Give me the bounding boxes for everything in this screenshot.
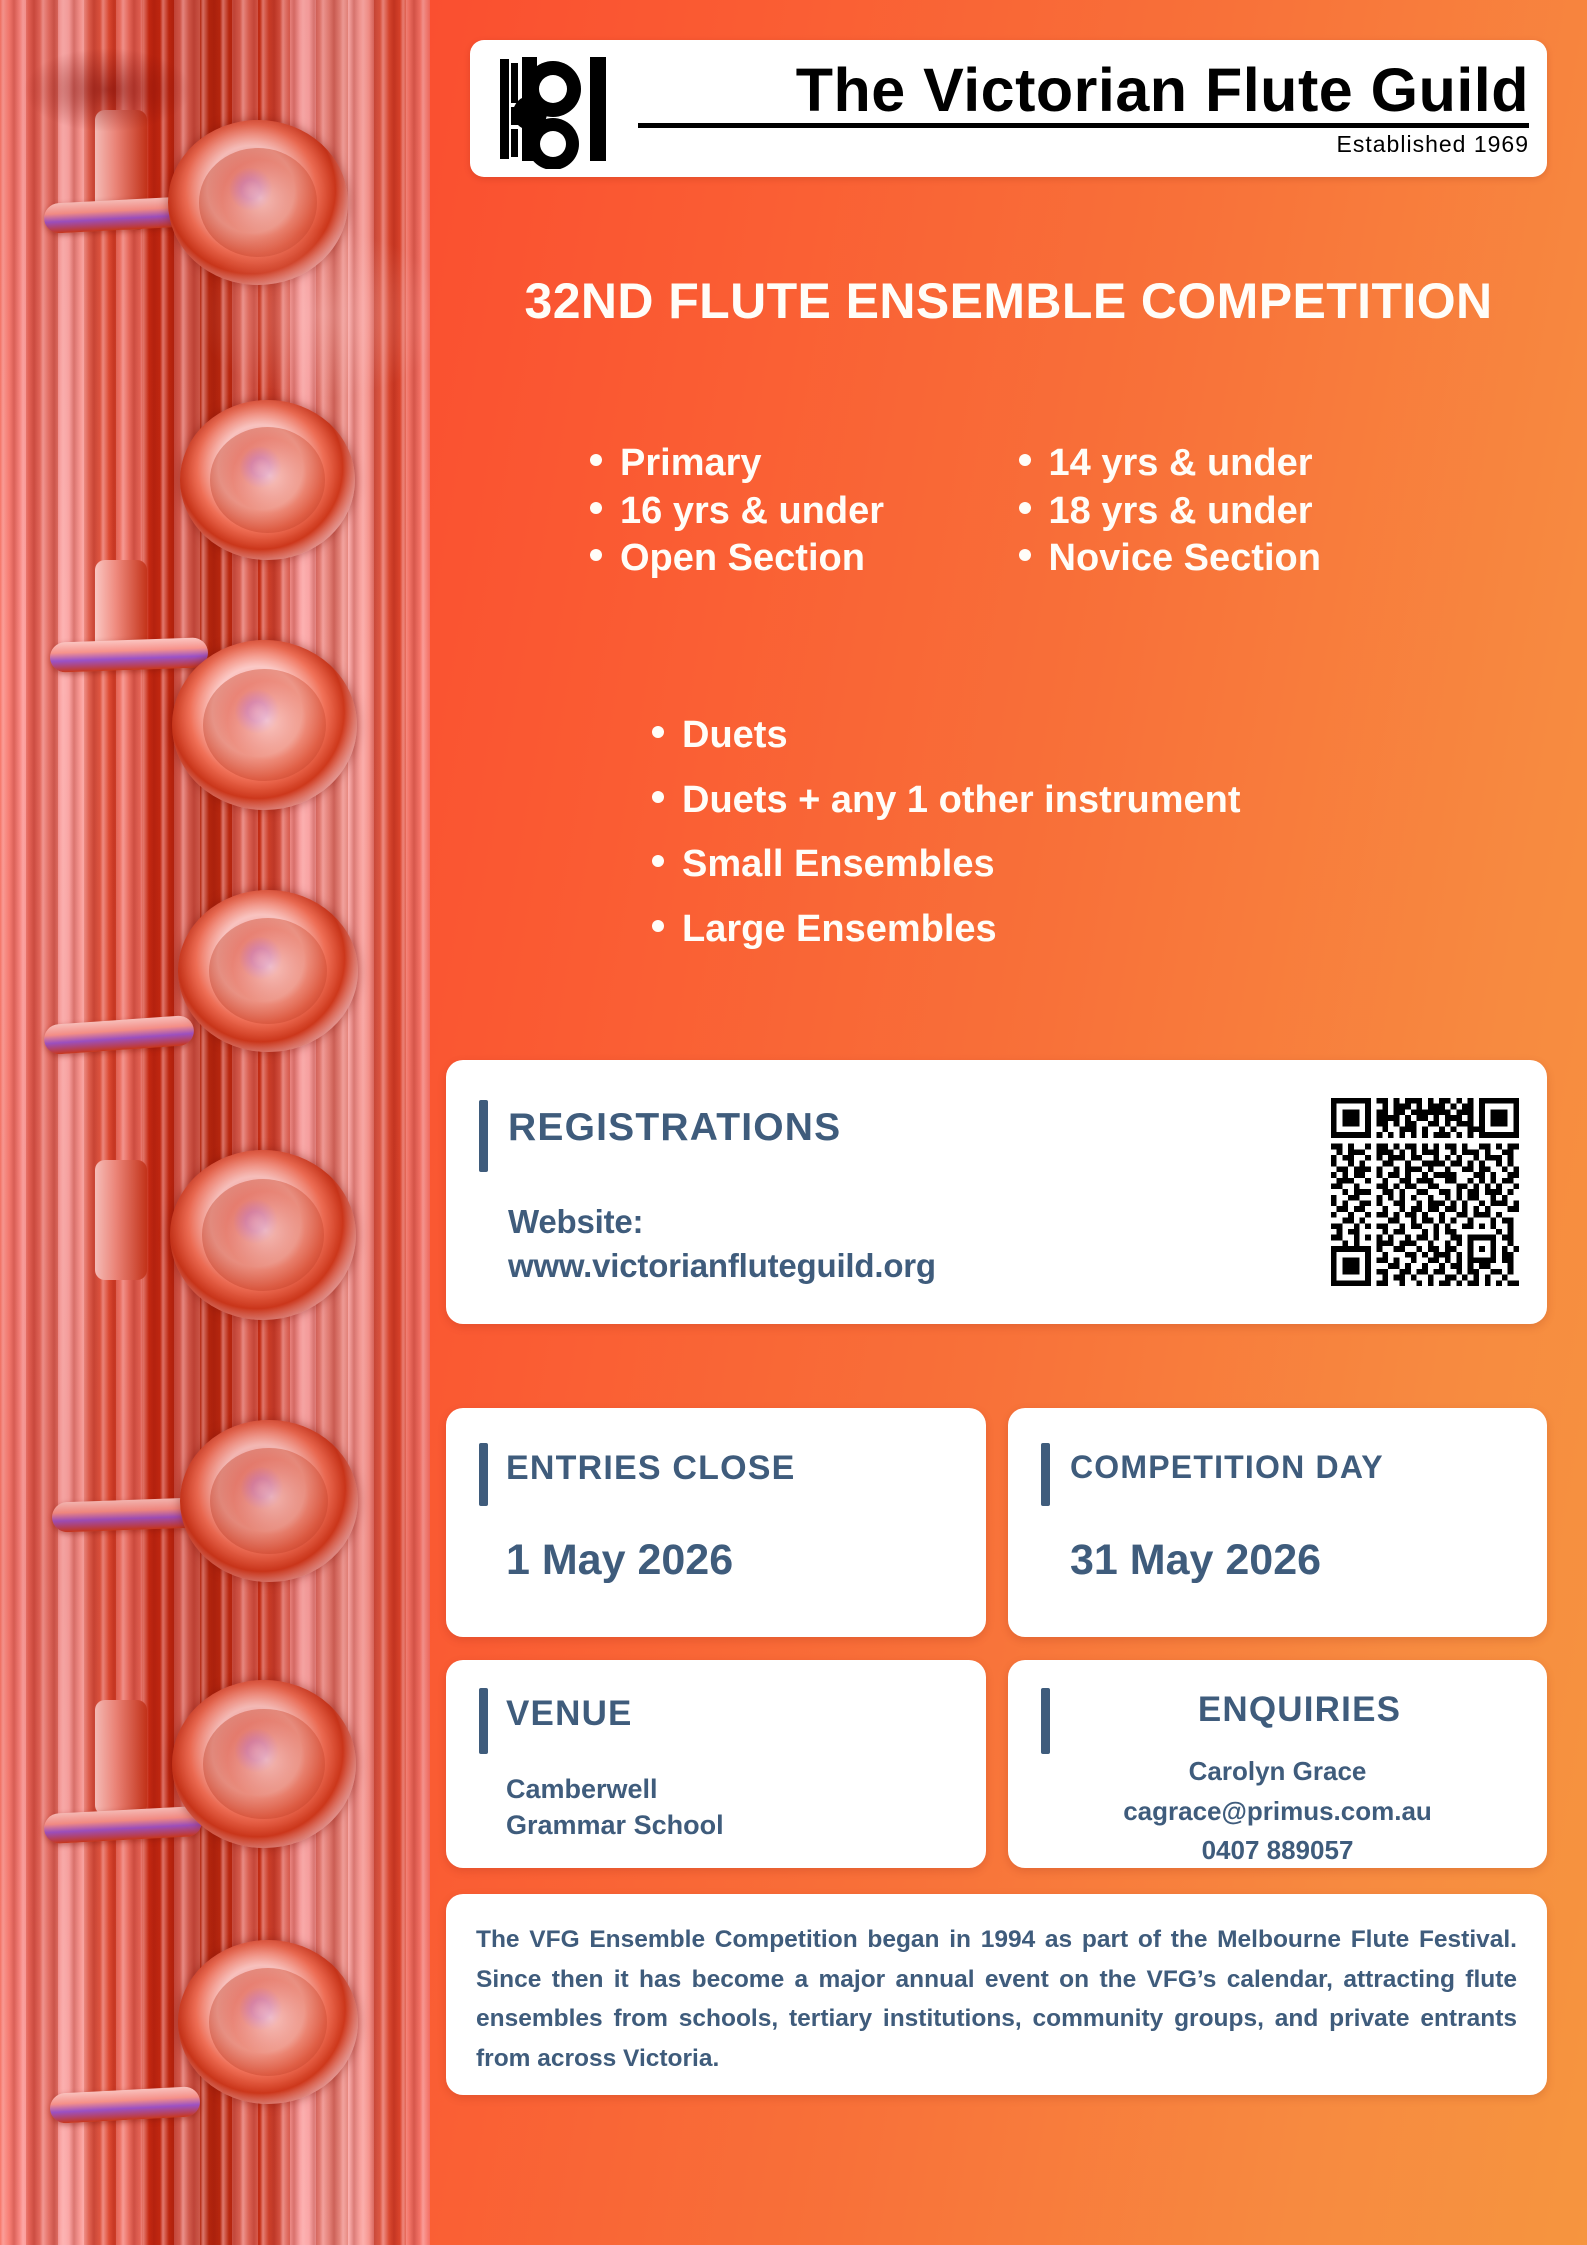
venue-card: VENUE Camberwell Grammar School <box>446 1660 986 1868</box>
website-label: Website: <box>508 1200 936 1244</box>
list-item: Large Ensembles <box>652 906 1547 954</box>
competition-day-date: 31 May 2026 <box>1070 1536 1321 1585</box>
flute-photo-strip <box>0 0 430 2245</box>
logo-divider-rule <box>638 123 1529 128</box>
contact-phone[interactable]: 0407 889057 <box>1026 1831 1529 1871</box>
list-item: Open Section <box>590 535 1009 583</box>
bullet-dot-icon <box>590 454 602 466</box>
guild-logo-card: The Victorian Flute Guild Established 19… <box>470 40 1547 177</box>
poster-root: The Victorian Flute Guild Established 19… <box>0 0 1587 2245</box>
entries-close-card: ENTRIES CLOSE 1 May 2026 <box>446 1408 986 1637</box>
venue-line-1: Camberwell <box>506 1772 724 1808</box>
page-title: 32ND FLUTE ENSEMBLE COMPETITION <box>470 272 1547 330</box>
age-categories-right-column: 14 yrs & under 18 yrs & under Novice Sec… <box>1009 440 1548 583</box>
list-item-label: Small Ensembles <box>682 841 995 889</box>
registrations-title: REGISTRATIONS <box>508 1106 841 1150</box>
list-item-label: 14 yrs & under <box>1049 440 1313 488</box>
accent-bar <box>479 1688 488 1754</box>
ensemble-types-list: Duets Duets + any 1 other instrument Sma… <box>470 712 1547 970</box>
bullet-dot-icon <box>1019 549 1031 561</box>
list-item: 18 yrs & under <box>1019 488 1548 536</box>
description-text: The VFG Ensemble Competition began in 19… <box>476 1920 1517 2079</box>
venue-address: Camberwell Grammar School <box>506 1772 724 1843</box>
list-item: 16 yrs & under <box>590 488 1009 536</box>
bullet-dot-icon <box>652 855 664 867</box>
list-item-label: 18 yrs & under <box>1049 488 1313 536</box>
list-item: Novice Section <box>1019 535 1548 583</box>
bullet-dot-icon <box>652 726 664 738</box>
list-item-label: Primary <box>620 440 762 488</box>
bullet-dot-icon <box>1019 454 1031 466</box>
accent-bar <box>1041 1688 1050 1754</box>
qr-code-icon[interactable] <box>1331 1098 1519 1286</box>
list-item-label: Duets + any 1 other instrument <box>682 777 1241 825</box>
list-item-label: Novice Section <box>1049 535 1321 583</box>
list-item: Primary <box>590 440 1009 488</box>
bullet-dot-icon <box>1019 502 1031 514</box>
bullet-dot-icon <box>652 791 664 803</box>
age-categories-list: Primary 16 yrs & under Open Section 14 y… <box>470 440 1547 583</box>
entries-close-title: ENTRIES CLOSE <box>506 1449 796 1488</box>
list-item: Duets <box>652 712 1547 760</box>
list-item-label: Open Section <box>620 535 865 583</box>
list-item-label: Large Ensembles <box>682 906 997 954</box>
description-card: The VFG Ensemble Competition began in 19… <box>446 1894 1547 2095</box>
contact-name: Carolyn Grace <box>1026 1752 1529 1792</box>
accent-bar <box>479 1443 488 1506</box>
flute-keys-logo-icon <box>494 49 628 169</box>
established-text: Established 1969 <box>1337 131 1529 158</box>
website-url[interactable]: www.victorianfluteguild.org <box>508 1244 936 1288</box>
competition-day-card: COMPETITION DAY 31 May 2026 <box>1008 1408 1547 1637</box>
bullet-dot-icon <box>652 920 664 932</box>
list-item-label: Duets <box>682 712 788 760</box>
registrations-card: REGISTRATIONS Website: www.victorianflut… <box>446 1060 1547 1324</box>
accent-bar <box>479 1100 488 1172</box>
bullet-dot-icon <box>590 502 602 514</box>
venue-line-2: Grammar School <box>506 1808 724 1844</box>
competition-day-title: COMPETITION DAY <box>1070 1449 1384 1486</box>
bullet-dot-icon <box>590 549 602 561</box>
contact-email[interactable]: cagrace@primus.com.au <box>1026 1792 1529 1832</box>
list-item: 14 yrs & under <box>1019 440 1548 488</box>
enquiries-contact-block: Carolyn Grace cagrace@primus.com.au 0407… <box>1026 1752 1529 1871</box>
flute-shading-overlay <box>0 0 430 2245</box>
venue-title: VENUE <box>506 1694 633 1734</box>
content-column: The Victorian Flute Guild Established 19… <box>430 0 1587 2245</box>
age-categories-left-column: Primary 16 yrs & under Open Section <box>470 440 1009 583</box>
logo-wordmark: The Victorian Flute Guild Established 19… <box>628 59 1529 158</box>
enquiries-card: ENQUIRIES Carolyn Grace cagrace@primus.c… <box>1008 1660 1547 1868</box>
entries-close-date: 1 May 2026 <box>506 1536 733 1585</box>
guild-name: The Victorian Flute Guild <box>796 59 1529 121</box>
list-item: Small Ensembles <box>652 841 1547 889</box>
registrations-website-block: Website: www.victorianfluteguild.org <box>508 1200 936 1287</box>
list-item-label: 16 yrs & under <box>620 488 884 536</box>
accent-bar <box>1041 1443 1050 1506</box>
list-item: Duets + any 1 other instrument <box>652 777 1547 825</box>
enquiries-title: ENQUIRIES <box>1070 1690 1529 1730</box>
